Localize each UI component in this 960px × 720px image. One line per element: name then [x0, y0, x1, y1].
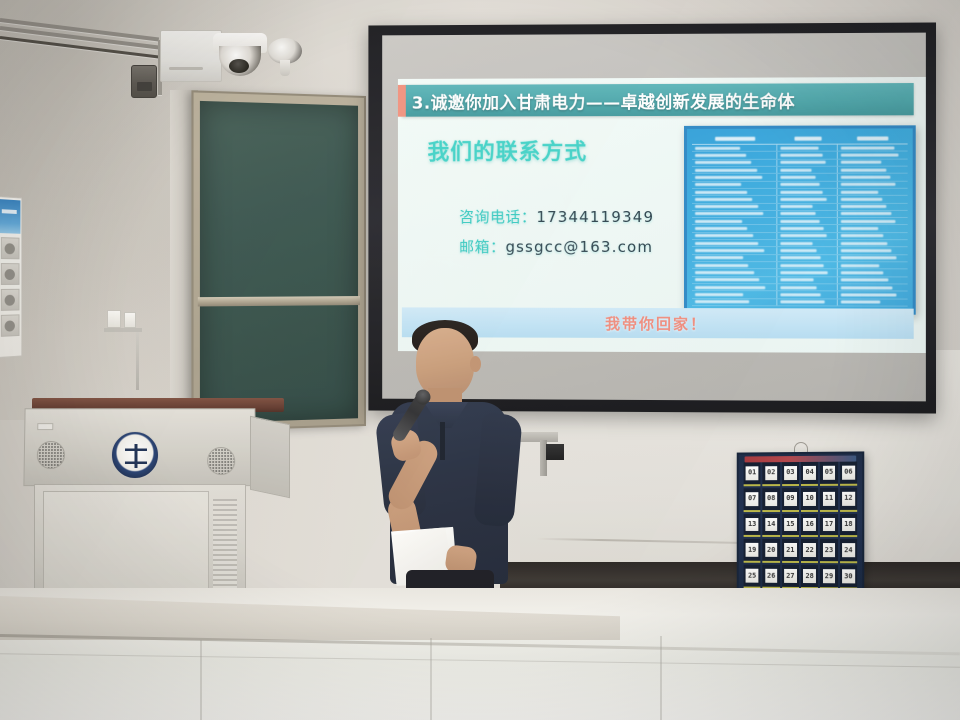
blackboard-surface: [200, 101, 358, 423]
presenter-ear: [470, 356, 481, 372]
table-cell: [778, 233, 839, 239]
table-cell: [838, 196, 907, 202]
number-card-label: 01: [746, 466, 758, 480]
number-card-label: 13: [746, 518, 758, 532]
av-equipment-box: [546, 444, 564, 460]
table-cell: [838, 270, 907, 276]
number-card-label: 23: [823, 543, 836, 557]
number-card-label: 17: [823, 517, 836, 531]
table-cell: [838, 240, 907, 246]
hanging-wire: [136, 332, 139, 390]
title-accent-bar: [398, 85, 406, 117]
slide-banner-text: 我带你回家！: [605, 312, 707, 333]
table-cell: [778, 196, 839, 202]
table-cell: [778, 262, 839, 268]
number-card[interactable]: 05: [820, 462, 837, 486]
number-card[interactable]: 24: [840, 539, 857, 563]
number-card[interactable]: 13: [744, 514, 761, 538]
number-card[interactable]: 06: [840, 462, 857, 486]
table-cell: [838, 189, 907, 195]
table-cell: [838, 284, 907, 290]
light-switch[interactable]: [124, 312, 136, 328]
number-card[interactable]: 26: [763, 565, 780, 589]
table-cell: [838, 181, 907, 187]
light-switch[interactable]: [107, 310, 121, 328]
table-row: [692, 189, 908, 196]
poster-cell: [1, 263, 20, 285]
number-card-label: 15: [784, 518, 796, 532]
table-cell: [692, 211, 778, 217]
contact-email-label: 邮箱：: [459, 238, 505, 256]
table-cell: [778, 174, 839, 180]
lectern: [24, 398, 292, 620]
number-card-label: 11: [823, 492, 836, 506]
security-camera-icon: [268, 38, 302, 74]
table-cell: [778, 240, 839, 246]
table-row: [692, 196, 908, 203]
table-row: [692, 299, 908, 307]
number-card-label: 10: [803, 492, 815, 506]
table-cell: [692, 269, 778, 275]
table-cell: [778, 211, 839, 217]
tile-seam: [430, 638, 432, 720]
contact-email-line: 邮箱：gssgcc@163.com: [459, 236, 653, 257]
number-card[interactable]: 04: [801, 462, 818, 486]
table-cell: [778, 269, 839, 275]
table-cell: [692, 167, 778, 173]
table-cell: [692, 277, 778, 283]
table-cell: [778, 292, 839, 298]
poster-cell: [1, 289, 20, 311]
table-cell: [838, 144, 907, 150]
number-card-label: 21: [784, 543, 796, 557]
number-card-label: 02: [765, 466, 777, 480]
blackboard: [191, 90, 366, 431]
poster-header: [0, 199, 20, 234]
table-cell: [692, 152, 778, 158]
number-card[interactable]: 09: [782, 488, 799, 512]
table-header-phone: [779, 134, 838, 145]
table-cell: [838, 159, 907, 165]
lectern-front-panel: [23, 408, 256, 486]
number-card[interactable]: 22: [801, 539, 818, 563]
table-cell: [778, 284, 839, 290]
table-row: [692, 218, 908, 225]
table-cell: [838, 167, 907, 173]
table-header-email: [838, 133, 908, 144]
table-cell: [692, 247, 778, 253]
number-card-label: 26: [765, 569, 777, 583]
number-card[interactable]: 29: [820, 565, 837, 589]
number-card[interactable]: 02: [763, 462, 780, 486]
number-card[interactable]: 03: [782, 462, 799, 486]
table-cell: [778, 277, 839, 283]
number-card-label: 22: [803, 543, 815, 557]
number-card-label: 29: [823, 569, 836, 583]
table-cell: [838, 218, 907, 224]
table-cell: [838, 255, 907, 261]
number-card-label: 18: [842, 517, 855, 531]
slide-title-bar: 3.诚邀你加入甘肃电力——卓越创新发展的生命体: [402, 83, 914, 117]
table-cell: [692, 181, 778, 187]
number-card[interactable]: 28: [801, 565, 818, 589]
classroom-photo: 3.诚邀你加入甘肃电力——卓越创新发展的生命体 我们的联系方式 咨询电话：173…: [0, 0, 960, 720]
wall-poster: [0, 196, 22, 358]
number-card[interactable]: 18: [840, 514, 857, 538]
number-card-label: 09: [784, 492, 796, 506]
table-cell: [838, 299, 907, 306]
table-cell: [838, 203, 907, 209]
number-card-label: 04: [803, 466, 815, 480]
contact-phone-line: 咨询电话：17344119349: [459, 206, 654, 227]
number-card-label: 24: [842, 543, 855, 557]
table-cell: [692, 240, 778, 246]
number-card-label: 25: [746, 569, 758, 583]
table-cell: [838, 292, 907, 298]
table-row: [692, 211, 908, 218]
presentation-slide: 3.诚邀你加入甘肃电力——卓越创新发展的生命体 我们的联系方式 咨询电话：173…: [398, 77, 926, 353]
table-cell: [692, 203, 778, 209]
number-card-label: 28: [803, 569, 815, 583]
table-cell: [838, 262, 907, 268]
table-cell: [692, 284, 778, 290]
number-card[interactable]: 20: [763, 539, 780, 563]
number-card-label: 19: [746, 543, 758, 557]
table-cell: [778, 152, 839, 158]
table-cell: [692, 218, 778, 224]
table-grid: [692, 133, 908, 306]
tile-seam: [200, 640, 202, 720]
lectern-side-panel: [250, 416, 290, 499]
wall-junction-box: [131, 65, 157, 98]
table-cell: [838, 152, 907, 158]
number-card[interactable]: 08: [763, 488, 780, 512]
tile-seam: [660, 636, 662, 720]
number-card[interactable]: 19: [744, 539, 761, 563]
table-cell: [778, 159, 839, 165]
table-cell: [778, 225, 839, 231]
number-card-label: 07: [746, 492, 758, 506]
number-card[interactable]: 01: [744, 462, 761, 486]
number-card[interactable]: 25: [744, 565, 761, 589]
table-cell: [692, 233, 778, 239]
number-card-label: 08: [765, 492, 777, 506]
table-cell: [838, 211, 907, 217]
number-card-label: 12: [842, 491, 855, 505]
table-cell: [778, 247, 839, 253]
number-card-label: 14: [765, 518, 777, 532]
table-cell: [838, 225, 907, 231]
table-cell: [778, 255, 839, 261]
table-cell: [692, 262, 778, 268]
number-card-label: 30: [842, 569, 855, 583]
number-card[interactable]: 30: [840, 565, 857, 589]
table-cell: [778, 181, 839, 187]
number-card-label: 20: [765, 543, 777, 557]
slide-heading: 我们的联系方式: [428, 134, 588, 166]
number-card-label: 03: [784, 466, 796, 480]
table-cell: [692, 225, 778, 231]
table-body: [692, 144, 908, 306]
number-card[interactable]: 10: [801, 488, 818, 512]
table-header-unit: [692, 134, 779, 145]
table-cell: [692, 174, 778, 180]
table-row: [692, 203, 908, 210]
table-cell: [692, 291, 778, 298]
wall-baseboard: [500, 562, 960, 588]
presenter-shirt-placket: [440, 422, 445, 460]
lectern-vent: [213, 499, 237, 591]
table-cell: [838, 277, 907, 283]
slide-title: 3.诚邀你加入甘肃电力——卓越创新发展的生命体: [402, 87, 795, 113]
poster-cell: [1, 314, 20, 337]
number-card[interactable]: 14: [763, 514, 780, 538]
lectern-label: [37, 423, 53, 430]
table-row: [692, 233, 908, 240]
table-cell: [778, 218, 839, 224]
lectern-cabinet-door[interactable]: [43, 491, 209, 599]
table-header-row: [692, 133, 908, 145]
contact-directory-table: [684, 125, 916, 314]
chart-title-strip: [745, 456, 857, 463]
table-cell: [692, 145, 778, 151]
dome-camera-icon: [213, 33, 267, 79]
table-cell: [692, 255, 778, 261]
number-card[interactable]: 23: [820, 539, 837, 563]
table-cell: [778, 203, 839, 209]
table-cell: [838, 248, 907, 254]
table-cell: [692, 196, 778, 202]
number-card[interactable]: 17: [820, 514, 837, 538]
number-card[interactable]: 12: [840, 488, 857, 512]
number-pocket-chart: 0102030405060708091011121314151617181920…: [737, 451, 865, 596]
table-cell: [692, 159, 778, 165]
chalk-rail: [198, 296, 360, 306]
number-card[interactable]: 16: [801, 514, 818, 538]
table-row: [692, 225, 908, 232]
university-emblem: [111, 431, 159, 479]
number-card[interactable]: 11: [820, 488, 837, 512]
table-cell: [778, 189, 839, 195]
number-card-label: 16: [803, 518, 815, 532]
speaker-grille-icon: [37, 441, 65, 469]
poster-cell: [1, 237, 20, 259]
number-card-label: 05: [823, 466, 836, 480]
number-card-grid: 0102030405060708091011121314151617181920…: [744, 462, 858, 590]
number-card-label: 06: [842, 466, 855, 480]
number-card[interactable]: 21: [782, 539, 799, 563]
contact-phone-value: 17344119349: [536, 208, 654, 226]
table-cell: [778, 299, 839, 305]
table-cell: [778, 145, 839, 151]
table-cell: [692, 299, 778, 306]
number-card-label: 27: [784, 569, 796, 583]
table-cell: [838, 174, 907, 180]
contact-phone-label: 咨询电话：: [459, 208, 536, 226]
number-card[interactable]: 07: [744, 488, 761, 512]
number-card[interactable]: 27: [782, 565, 799, 589]
table-cell: [778, 167, 839, 173]
table-cell: [838, 233, 907, 239]
number-card[interactable]: 15: [782, 514, 799, 538]
speaker-grille-icon: [207, 447, 235, 475]
presenter-right-sleeve: [473, 412, 523, 527]
table-cell: [692, 189, 778, 195]
contact-email-value: gssgcc@163.com: [505, 238, 653, 256]
